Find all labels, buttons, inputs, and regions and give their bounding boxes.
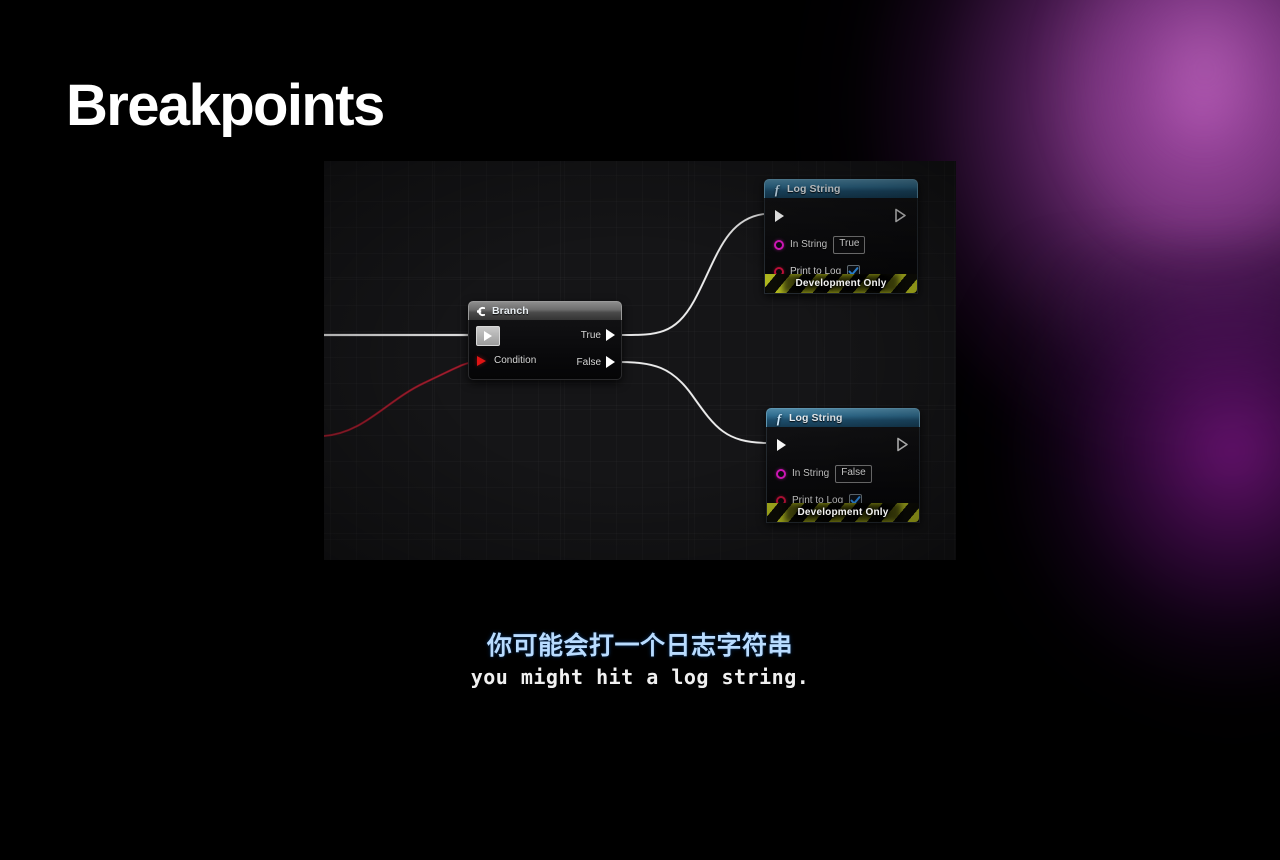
blueprint-graph-canvas[interactable]: Branch True Condition False xyxy=(324,161,956,560)
page-title: Breakpoints xyxy=(66,77,384,135)
development-only-label: Development Only xyxy=(796,278,887,289)
purple-glow-highlight xyxy=(1040,0,1280,260)
subtitle-block: 你可能会打一个日志字符串 you might hit a log string. xyxy=(0,632,1280,690)
subtitle-english: you might hit a log string. xyxy=(0,664,1280,690)
subtitle-chinese: 你可能会打一个日志字符串 xyxy=(0,632,1280,662)
canvas-vignette xyxy=(324,161,956,560)
development-only-label: Development Only xyxy=(798,507,889,518)
